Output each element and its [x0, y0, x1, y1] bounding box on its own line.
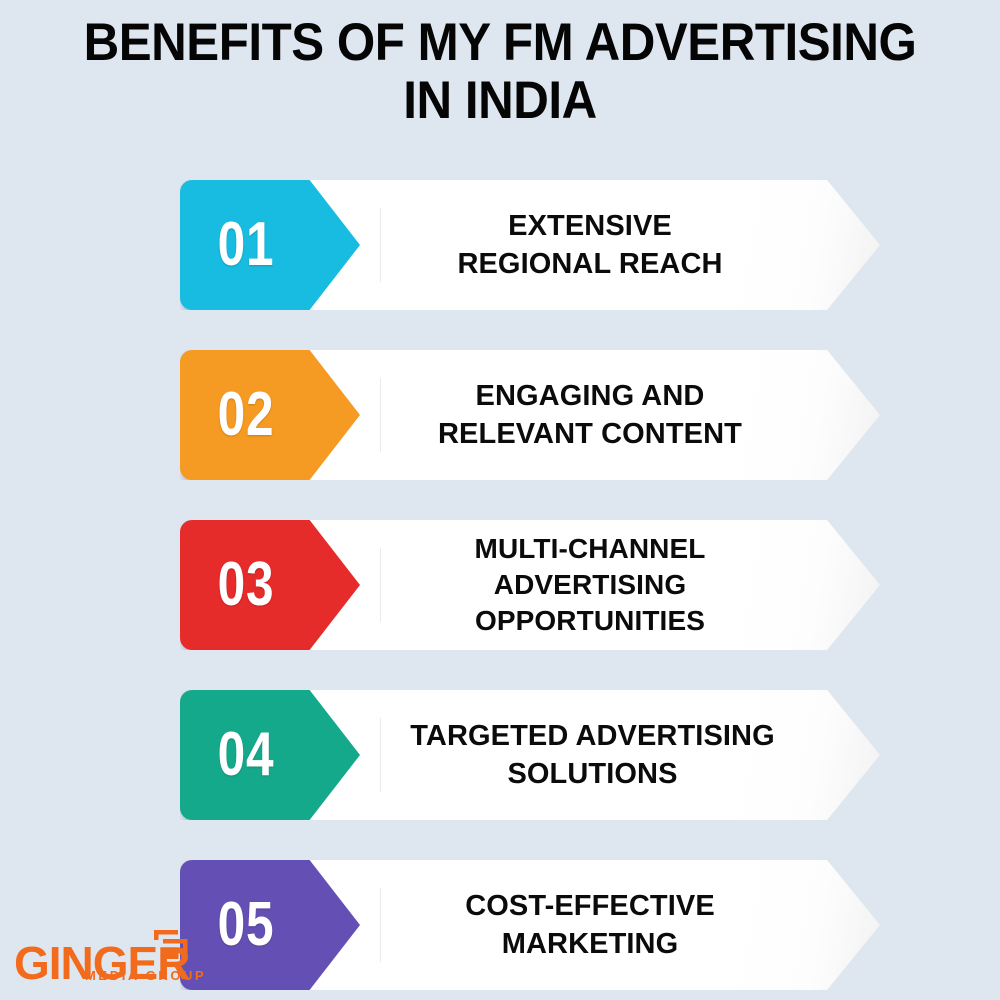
benefit-label-03-line-3: OPPORTUNITIES	[475, 603, 705, 639]
benefit-label-01-line-2: REGIONAL REACH	[457, 245, 722, 283]
benefit-item-05[interactable]: 05 COST-EFFECTIVE MARKETING	[180, 860, 880, 990]
benefit-label-01-line-1: EXTENSIVE	[508, 207, 672, 245]
benefit-number-02: 02	[193, 350, 299, 480]
benefit-label-04-line-1: TARGETED ADVERTISING	[410, 717, 775, 755]
benefit-item-02[interactable]: 02 ENGAGING AND RELEVANT CONTENT	[180, 350, 880, 480]
logo-tagline: MEDIA GROUP	[85, 969, 206, 983]
benefit-number-03: 03	[193, 520, 299, 650]
benefit-label-02-line-1: ENGAGING AND	[476, 377, 705, 415]
benefit-label-03-line-2: ADVERTISING	[494, 567, 686, 603]
benefit-number-04: 04	[193, 690, 299, 820]
benefit-label-02: ENGAGING AND RELEVANT CONTENT	[380, 350, 800, 480]
benefit-label-05-line-2: MARKETING	[502, 925, 679, 963]
benefit-item-04[interactable]: 04 TARGETED ADVERTISING SOLUTIONS	[180, 690, 880, 820]
benefit-label-03: MULTI-CHANNEL ADVERTISING OPPORTUNITIES	[380, 520, 800, 650]
benefit-label-04-line-2: SOLUTIONS	[507, 755, 677, 793]
benefit-label-03-line-1: MULTI-CHANNEL	[475, 531, 706, 567]
benefit-item-03[interactable]: 03 MULTI-CHANNEL ADVERTISING OPPORTUNITI…	[180, 520, 880, 650]
logo[interactable]: GINGER MEDIA GROUP	[14, 906, 244, 986]
benefits-list: 01 EXTENSIVE REGIONAL REACH 02 ENGAGING …	[0, 0, 1000, 1000]
benefit-label-02-line-2: RELEVANT CONTENT	[438, 415, 742, 453]
nested-squares-icon	[154, 930, 192, 964]
benefit-item-01[interactable]: 01 EXTENSIVE REGIONAL REACH	[180, 180, 880, 310]
benefit-label-05-line-1: COST-EFFECTIVE	[465, 887, 715, 925]
benefit-label-04: TARGETED ADVERTISING SOLUTIONS	[370, 690, 815, 820]
benefit-label-05: COST-EFFECTIVE MARKETING	[380, 860, 800, 990]
benefit-label-01: EXTENSIVE REGIONAL REACH	[380, 180, 800, 310]
benefit-number-01: 01	[193, 180, 299, 310]
